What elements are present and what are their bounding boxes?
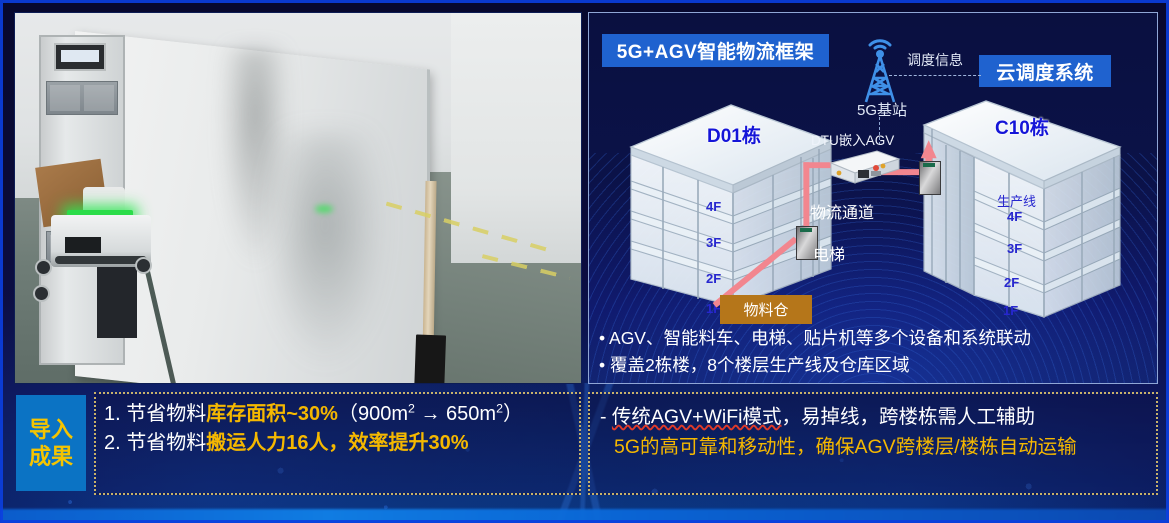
dtu-agv-label: DTU嵌入AGV	[811, 129, 894, 149]
diagram-bullet-list: • AGV、智能料车、电梯、贴片机等多个设备和系统联动 • 覆盖2栋楼，8个楼层…	[599, 325, 1155, 379]
d01-floor-2f: 2F	[706, 271, 721, 286]
diagram-bullet-2: • 覆盖2栋楼，8个楼层生产线及仓库区域	[599, 352, 1155, 379]
results-text-box: 1. 节省物料库存面积~30%（900m2 → 650m2） 2. 节省物料搬运…	[94, 392, 581, 495]
results-item-1-paren-open: （900m	[338, 403, 408, 425]
building-d01-label: D01栋	[707, 121, 761, 148]
results-tag-badge: 导入 成果	[16, 395, 86, 491]
results-item-2: 2. 节省物料搬运人力16人，效率提升30%	[104, 429, 579, 458]
c10-floor-2f: 2F	[1004, 275, 1019, 290]
results-item-1-sup-1: 2	[408, 401, 415, 415]
bottom-glow-bar	[0, 509, 1169, 523]
c10-floor-1f: 1F	[1003, 303, 1018, 318]
results-item-1-paren-close: ）	[503, 403, 523, 425]
d01-floor-1f: 1F	[706, 301, 721, 316]
cart-wheel-2	[33, 285, 50, 302]
elevator-icon-c10	[919, 161, 941, 195]
results-item-1-index: 1.	[104, 403, 126, 425]
comparison-text-box: - 传统AGV+WiFi模式，易掉线，跨楼栋需人工辅助 5G的高可靠和移动性，确…	[588, 392, 1158, 495]
comparison-line-1-rest: ，易掉线，跨楼栋需人工辅助	[781, 406, 1035, 428]
diagram-bullet-1: • AGV、智能料车、电梯、贴片机等多个设备和系统联动	[599, 325, 1155, 352]
results-item-1-arrow: → 650m	[415, 403, 496, 425]
c10-production-line-label: 生产线	[997, 191, 1036, 210]
photo-smudge-2	[265, 133, 385, 363]
photo-green-laser-dot	[315, 205, 333, 213]
d01-floor-3f: 3F	[706, 235, 721, 250]
comparison-line-1-spellchecked: 传统AGV+WiFi模式	[612, 406, 782, 428]
results-item-1-highlight: 库存面积~30%	[206, 403, 338, 425]
c10-floor-4f: 4F	[1007, 209, 1022, 224]
cloud-scheduling-system-badge: 云调度系统	[979, 55, 1111, 87]
photo-black-base	[414, 334, 446, 384]
cart-touchscreen	[54, 43, 106, 71]
d01-floor-4f: 4F	[706, 199, 721, 214]
agv-sensor-panel	[65, 237, 101, 253]
results-item-1-sup-2: 2	[496, 401, 503, 415]
schedule-info-label: 调度信息	[907, 50, 963, 70]
comparison-line-1-prefix: -	[600, 406, 612, 428]
dtu-agv-vehicle-icon	[825, 147, 903, 189]
results-tag-line-2: 成果	[29, 443, 73, 471]
photo-agv-material-cart	[39, 35, 125, 365]
elevator-label: 电梯	[813, 241, 845, 265]
schedule-dashed-link	[889, 75, 981, 76]
results-item-1: 1. 节省物料库存面积~30%（900m2 → 650m2）	[104, 400, 579, 429]
building-c10-label: C10栋	[995, 113, 1049, 140]
cart-shelf-1	[46, 81, 118, 115]
factory-agv-photo	[14, 12, 582, 384]
results-item-2-prefix: 节省物料	[126, 432, 206, 454]
cart-wheel-3	[135, 257, 152, 274]
cart-wheel-1	[35, 259, 52, 276]
c10-floor-3f: 3F	[1007, 241, 1022, 256]
results-tag-line-1: 导入	[29, 416, 73, 444]
comparison-line-2: 5G的高可靠和移动性，确保AGV跨楼层/楼栋自动运输	[600, 431, 1156, 464]
logistics-architecture-diagram: 5G+AGV智能物流框架 云调度系统 5G基站 调度信息	[588, 12, 1158, 384]
results-item-2-index: 2.	[104, 432, 126, 454]
comparison-line-1: - 传统AGV+WiFi模式，易掉线，跨楼栋需人工辅助	[600, 403, 1156, 431]
agv-bumper	[55, 256, 147, 264]
results-item-2-highlight: 搬运人力16人，效率提升30%	[206, 432, 468, 454]
diagram-title-badge: 5G+AGV智能物流框架	[602, 34, 829, 67]
logistics-corridor-label: 物流通道	[810, 199, 874, 223]
material-warehouse-label: 物料仓	[720, 295, 812, 324]
results-item-1-prefix: 节省物料	[126, 403, 206, 425]
5g-base-station-icon	[852, 28, 908, 104]
